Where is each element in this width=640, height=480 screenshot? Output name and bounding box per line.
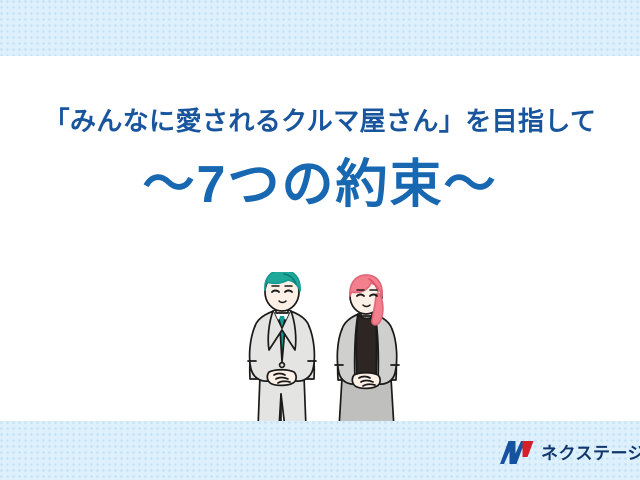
female-staff-figure — [335, 275, 399, 428]
promo-banner: 「みんなに愛されるクルマ屋さん」を目指して 〜7つの約束〜 — [0, 0, 640, 480]
nexstage-logo: ネクステージ — [500, 438, 640, 468]
headline-primary: 「みんなに愛されるクルマ屋さん」を目指して — [0, 104, 640, 138]
headline-block: 「みんなに愛されるクルマ屋さん」を目指して 〜7つの約束〜 — [0, 104, 640, 216]
two-bowing-staff-illustration — [236, 272, 412, 428]
male-staff-figure — [248, 272, 316, 428]
nexstage-wordmark: ネクステージ — [541, 445, 640, 462]
top-dotted-band — [0, 0, 640, 56]
nexstage-n-logo-icon — [500, 441, 534, 465]
headline-secondary: 〜7つの約束〜 — [0, 154, 640, 216]
